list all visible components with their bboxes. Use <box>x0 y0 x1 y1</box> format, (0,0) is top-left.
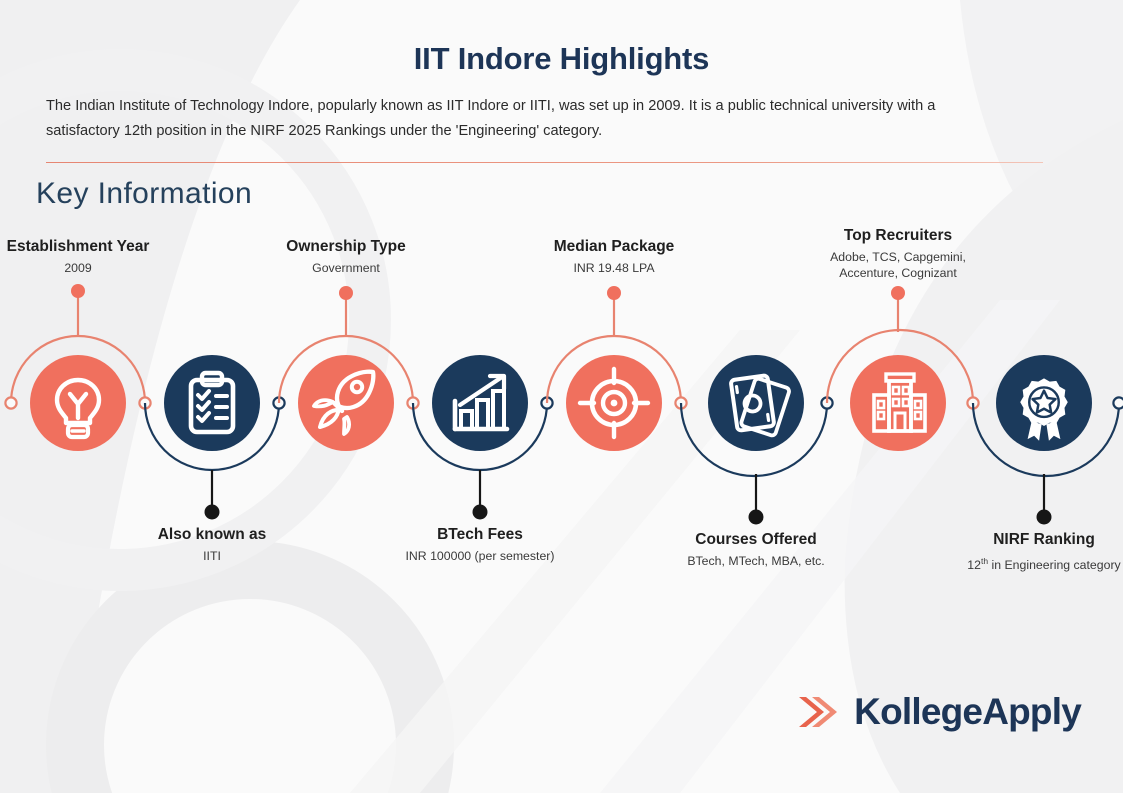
timeline-node-establishment-year[interactable] <box>5 284 150 451</box>
timeline-node-median-package[interactable] <box>547 286 687 451</box>
key-information-timeline: Establishment Year 2009 Ownership Type G… <box>0 0 1123 793</box>
timeline-node-ownership-type[interactable] <box>279 286 419 451</box>
icon-circle-banknotes <box>708 355 804 451</box>
timeline-node-nirf-ranking[interactable] <box>973 355 1123 525</box>
timeline-node-top-recruiters[interactable] <box>827 286 979 451</box>
icon-circle-rocket <box>298 355 394 451</box>
timeline-graphics <box>0 0 1123 793</box>
icon-circle-growth-chart <box>432 355 528 451</box>
timeline-node-also-known-as[interactable] <box>145 355 285 520</box>
logo-text: KollegeApply <box>854 691 1081 733</box>
icon-circle-clipboard <box>164 355 260 451</box>
double-chevron-icon <box>795 689 841 735</box>
timeline-node-courses-offered[interactable] <box>681 355 833 525</box>
timeline-node-btech-fees[interactable] <box>413 355 553 520</box>
kollegeapply-logo[interactable]: KollegeApply <box>795 689 1081 735</box>
